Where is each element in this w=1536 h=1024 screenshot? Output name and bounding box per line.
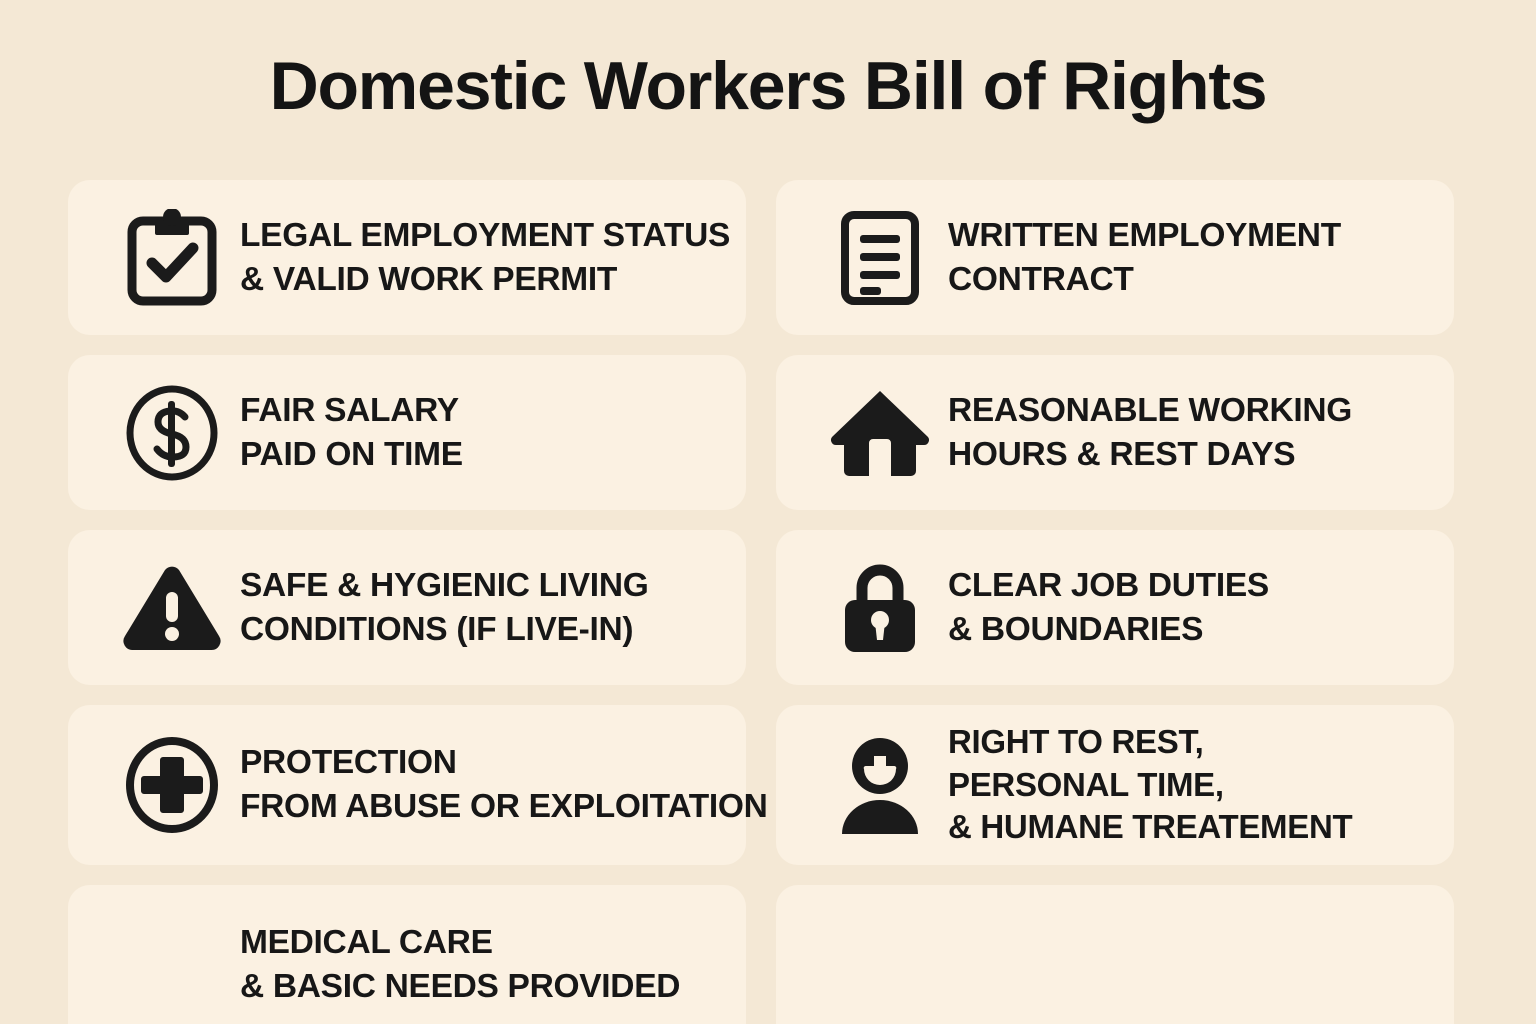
house-icon [812, 383, 948, 483]
icon-placeholder [104, 915, 240, 1015]
card-line: SAFE & HYGIENIC LIVING [240, 564, 746, 608]
card-line: CONDITIONS (IF LIVE-IN) [240, 608, 746, 652]
right-card-job-duties[interactable]: CLEAR JOB DUTIES & BOUNDARIES [776, 530, 1454, 685]
right-card-label: SAFE & HYGIENIC LIVING CONDITIONS (IF LI… [240, 564, 746, 652]
right-card-medical-care[interactable]: MEDICAL CARE & BASIC NEEDS PROVIDED [68, 885, 746, 1024]
card-line: FROM ABUSE OR EXPLOITATION [240, 785, 768, 829]
card-line: PERSONAL TIME, [948, 764, 1454, 807]
card-line: & HUMANE TREATEMENT [948, 806, 1454, 849]
person-icon [812, 735, 948, 835]
right-card-label: REASONABLE WORKING HOURS & REST DAYS [948, 389, 1454, 477]
right-card-label: WRITTEN EMPLOYMENT CONTRACT [948, 214, 1454, 302]
dollar-circle-icon [104, 383, 240, 483]
right-card-label: PROTECTION FROM ABUSE OR EXPLOITATION [240, 741, 768, 829]
right-card-fair-salary[interactable]: FAIR SALARY PAID ON TIME [68, 355, 746, 510]
right-card-legal-employment-status[interactable]: LEGAL EMPLOYMENT STATUS & VALID WORK PER… [68, 180, 746, 335]
right-card-working-hours[interactable]: REASONABLE WORKING HOURS & REST DAYS [776, 355, 1454, 510]
card-line: & VALID WORK PERMIT [240, 258, 746, 302]
card-line: FAIR SALARY [240, 389, 746, 433]
icon-placeholder [812, 915, 948, 1015]
right-card-written-contract[interactable]: WRITTEN EMPLOYMENT CONTRACT [776, 180, 1454, 335]
right-card-living-conditions[interactable]: SAFE & HYGIENIC LIVING CONDITIONS (IF LI… [68, 530, 746, 685]
card-line: WRITTEN EMPLOYMENT [948, 214, 1454, 258]
rights-card-grid: LEGAL EMPLOYMENT STATUS & VALID WORK PER… [68, 180, 1468, 1024]
right-card-empty[interactable] [776, 885, 1454, 1024]
right-card-label: CLEAR JOB DUTIES & BOUNDARIES [948, 564, 1454, 652]
card-line: & BOUNDARIES [948, 608, 1454, 652]
card-line: RIGHT TO REST, [948, 721, 1454, 764]
clipboard-check-icon [104, 208, 240, 308]
right-card-protection-from-abuse[interactable]: PROTECTION FROM ABUSE OR EXPLOITATION [68, 705, 746, 865]
right-card-label: FAIR SALARY PAID ON TIME [240, 389, 746, 477]
card-line: HOURS & REST DAYS [948, 433, 1454, 477]
medical-cross-circle-icon [104, 735, 240, 835]
right-card-label: RIGHT TO REST, PERSONAL TIME, & HUMANE T… [948, 721, 1454, 850]
page-title: Domestic Workers Bill of Rights [0, 52, 1536, 120]
right-card-right-to-rest[interactable]: RIGHT TO REST, PERSONAL TIME, & HUMANE T… [776, 705, 1454, 865]
card-line: & BASIC NEEDS PROVIDED [240, 965, 746, 1009]
card-line: LEGAL EMPLOYMENT STATUS [240, 214, 746, 258]
card-line: PROTECTION [240, 741, 768, 785]
right-card-label: LEGAL EMPLOYMENT STATUS & VALID WORK PER… [240, 214, 746, 302]
infographic-page: Domestic Workers Bill of Rights LEGAL EM… [0, 0, 1536, 1024]
card-line: MEDICAL CARE [240, 921, 746, 965]
card-line: REASONABLE WORKING [948, 389, 1454, 433]
card-line: CONTRACT [948, 258, 1454, 302]
document-lines-icon [812, 208, 948, 308]
card-line: PAID ON TIME [240, 433, 746, 477]
card-line: CLEAR JOB DUTIES [948, 564, 1454, 608]
right-card-label: MEDICAL CARE & BASIC NEEDS PROVIDED [240, 921, 746, 1009]
padlock-icon [812, 558, 948, 658]
warning-triangle-icon [104, 558, 240, 658]
